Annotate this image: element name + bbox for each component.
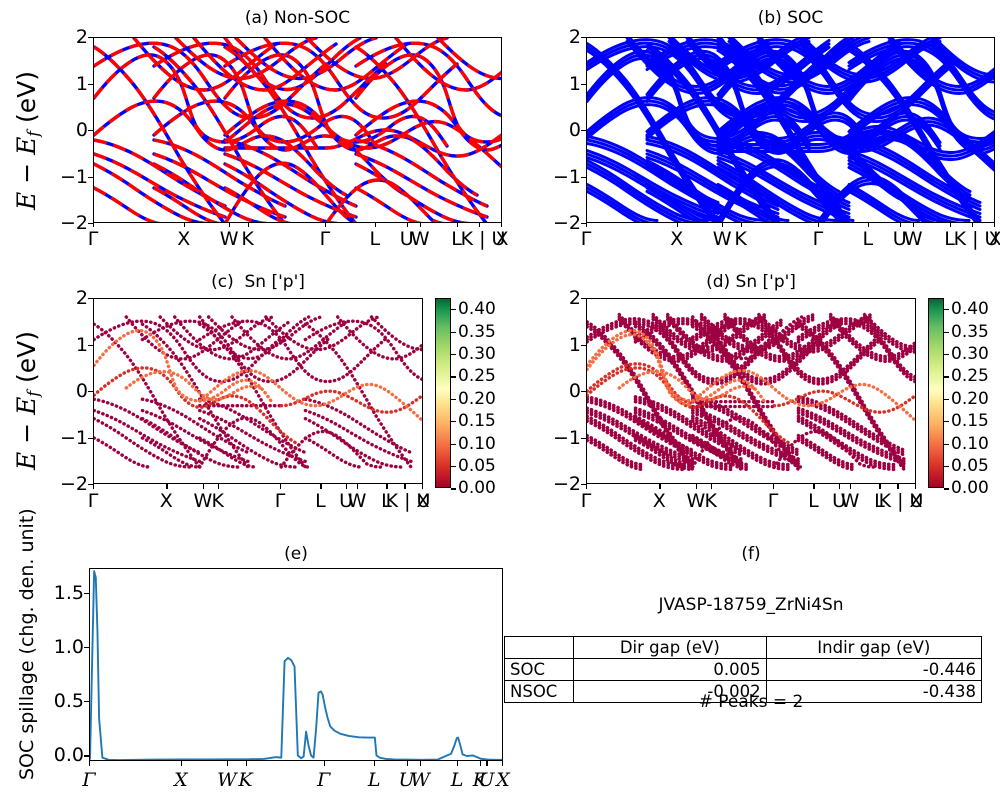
row-label-soc: SOC: [505, 659, 574, 681]
xtick: K: [238, 769, 252, 791]
ytick: −1: [553, 166, 581, 188]
ytick: 1.0: [54, 636, 84, 658]
cbar-tick: 0.35: [458, 322, 496, 342]
cbar-tick: 0.40: [951, 299, 989, 319]
cbar-tick: 0.10: [458, 434, 496, 454]
xtick: Γ: [82, 769, 95, 791]
panel-c-colorbar: [435, 298, 451, 488]
xtick: L: [451, 769, 464, 791]
xtick: Γ: [275, 490, 286, 512]
xtick: L: [368, 769, 381, 791]
panel-b-title: (b) SOC: [586, 8, 995, 28]
ytick: 0: [569, 119, 581, 141]
ytick: 0: [76, 119, 88, 141]
panel-d-title: (d) Sn ['p']: [586, 272, 916, 292]
panel-f-title: (f): [586, 544, 916, 564]
xtick: L: [315, 490, 326, 512]
ytick: −1: [60, 166, 88, 188]
ytick: 2: [569, 26, 581, 48]
xtick: Γ: [581, 228, 592, 250]
xtick: Γ: [88, 490, 99, 512]
panel-d-plot-area: [586, 298, 916, 484]
panel-a-plot-area: [93, 37, 502, 223]
ytick: −2: [553, 473, 581, 495]
table-header-row: Dir gap (eV) Indir gap (eV): [505, 637, 982, 659]
xtick: W: [841, 490, 860, 512]
cbar-tick: 0.05: [951, 456, 989, 476]
ytick: 0: [569, 380, 581, 402]
panel-b-plot-area: [586, 37, 995, 223]
panel-d-projected-bands: [587, 299, 916, 484]
xtick: X: [653, 490, 666, 512]
cbar-tick: 0.30: [951, 344, 989, 364]
panel-e-plot-area: [89, 568, 503, 761]
xtick: K: [211, 490, 223, 512]
xtick: K: [241, 228, 253, 250]
panel-c-projected-bands: [94, 299, 423, 484]
cbar-tick: 0.20: [458, 389, 496, 409]
panel-d-colorbar: [928, 298, 944, 488]
panel-c-ylabel: E − Ef (eV): [12, 331, 42, 470]
panel-d: (d) Sn ['p']: [586, 272, 916, 522]
xtick: L: [863, 228, 874, 250]
xtick: Γ: [813, 228, 824, 250]
figure-canvas: (a) Non-SOC: [0, 0, 1000, 800]
ytick: −2: [553, 212, 581, 234]
xtick: W: [686, 490, 705, 512]
cbar-tick: 0.20: [951, 389, 989, 409]
cell-soc-indir-gap: -0.446: [766, 659, 981, 681]
xtick: X: [177, 228, 190, 250]
cbar-tick: 0.40: [458, 299, 496, 319]
xtick: K: [704, 490, 716, 512]
panel-e-ylabel: SOC spillage (chg. den. unit): [16, 508, 38, 780]
peaks-note: # Peaks = 2: [586, 692, 916, 712]
panel-d-yticks: 2 1 0 −1 −2: [543, 298, 581, 484]
ytick: 0.5: [54, 690, 84, 712]
xtick: X: [988, 228, 1000, 250]
xtick: Γ: [88, 228, 99, 250]
xtick: Γ: [581, 490, 592, 512]
ytick: −1: [553, 427, 581, 449]
col-header-dir-gap: Dir gap (eV): [574, 637, 767, 659]
cbar-tick: 0.30: [458, 344, 496, 364]
cbar-tick: 0.05: [458, 456, 496, 476]
ytick: 0.0: [54, 744, 84, 766]
panel-c-plot-area: [93, 298, 423, 484]
cbar-tick: 0.25: [951, 366, 989, 386]
panel-b: (b) SOC: [586, 8, 995, 255]
panel-b-bands: [587, 38, 995, 223]
xtick: X: [670, 228, 683, 250]
panel-a-yticks: 2 1 0 −1 −2: [50, 37, 88, 223]
row-label-nsoc: NSOC: [505, 681, 574, 703]
ytick: 2: [76, 26, 88, 48]
panel-a-title: (a) Non-SOC: [93, 8, 502, 28]
panel-f-system-name: JVASP-18759_ZrNi4Sn: [586, 595, 916, 615]
table-row: SOC 0.005 -0.446: [505, 659, 982, 681]
xtick: Γ: [317, 769, 330, 791]
xtick: W: [411, 228, 430, 250]
panel-a: (a) Non-SOC: [93, 8, 502, 255]
panel-a-bands: [94, 38, 502, 223]
ytick: 2: [569, 287, 581, 309]
xtick: W: [220, 228, 239, 250]
xtick: X: [909, 490, 922, 512]
cbar-tick: 0.25: [458, 366, 496, 386]
ytick: 1.5: [54, 582, 84, 604]
xtick: W: [713, 228, 732, 250]
ytick: −1: [60, 427, 88, 449]
cbar-tick: 0.00: [458, 478, 496, 498]
cbar-tick: 0.10: [951, 434, 989, 454]
panel-e-spillage-curve: [90, 569, 503, 761]
ytick: −2: [60, 212, 88, 234]
xtick: Γ: [768, 490, 779, 512]
panel-e-title: (e): [89, 544, 503, 564]
panel-e: (e): [89, 544, 503, 794]
xtick: W: [904, 228, 923, 250]
xtick: W: [193, 490, 212, 512]
ytick: 1: [76, 73, 88, 95]
xtick: L: [808, 490, 819, 512]
xtick: X: [174, 769, 188, 791]
cbar-tick: 0.00: [951, 478, 989, 498]
xtick: X: [416, 490, 429, 512]
xtick: L: [370, 228, 381, 250]
ytick: −2: [60, 473, 88, 495]
ytick: 0: [76, 380, 88, 402]
panel-c-title: (c) Sn ['p']: [93, 272, 423, 292]
ytick: 1: [569, 73, 581, 95]
xtick: X: [496, 769, 510, 791]
ytick: 1: [569, 334, 581, 356]
xtick: W: [348, 490, 367, 512]
cbar-tick: 0.35: [951, 322, 989, 342]
panel-b-yticks: 2 1 0 −1 −2: [543, 37, 581, 223]
ytick: 2: [76, 287, 88, 309]
col-header-indir-gap: Indir gap (eV): [766, 637, 981, 659]
ytick: 1: [76, 334, 88, 356]
cbar-tick: 0.15: [951, 411, 989, 431]
xtick: Γ: [320, 228, 331, 250]
panel-c-yticks: 2 1 0 −1 −2: [50, 298, 88, 484]
xtick: W: [217, 769, 237, 791]
xtick: X: [495, 228, 508, 250]
xtick: K: [734, 228, 746, 250]
xtick: W: [410, 769, 430, 791]
panel-c: (c) Sn ['p']: [93, 272, 423, 522]
panel-e-yticks: 1.5 1.0 0.5 0.0: [42, 568, 84, 761]
panel-a-ylabel: E − Ef (eV): [12, 71, 42, 210]
xtick: X: [160, 490, 173, 512]
cell-soc-dir-gap: 0.005: [574, 659, 767, 681]
cbar-tick: 0.15: [458, 411, 496, 431]
xtick: U: [478, 769, 494, 791]
corner-cell: [505, 637, 574, 659]
